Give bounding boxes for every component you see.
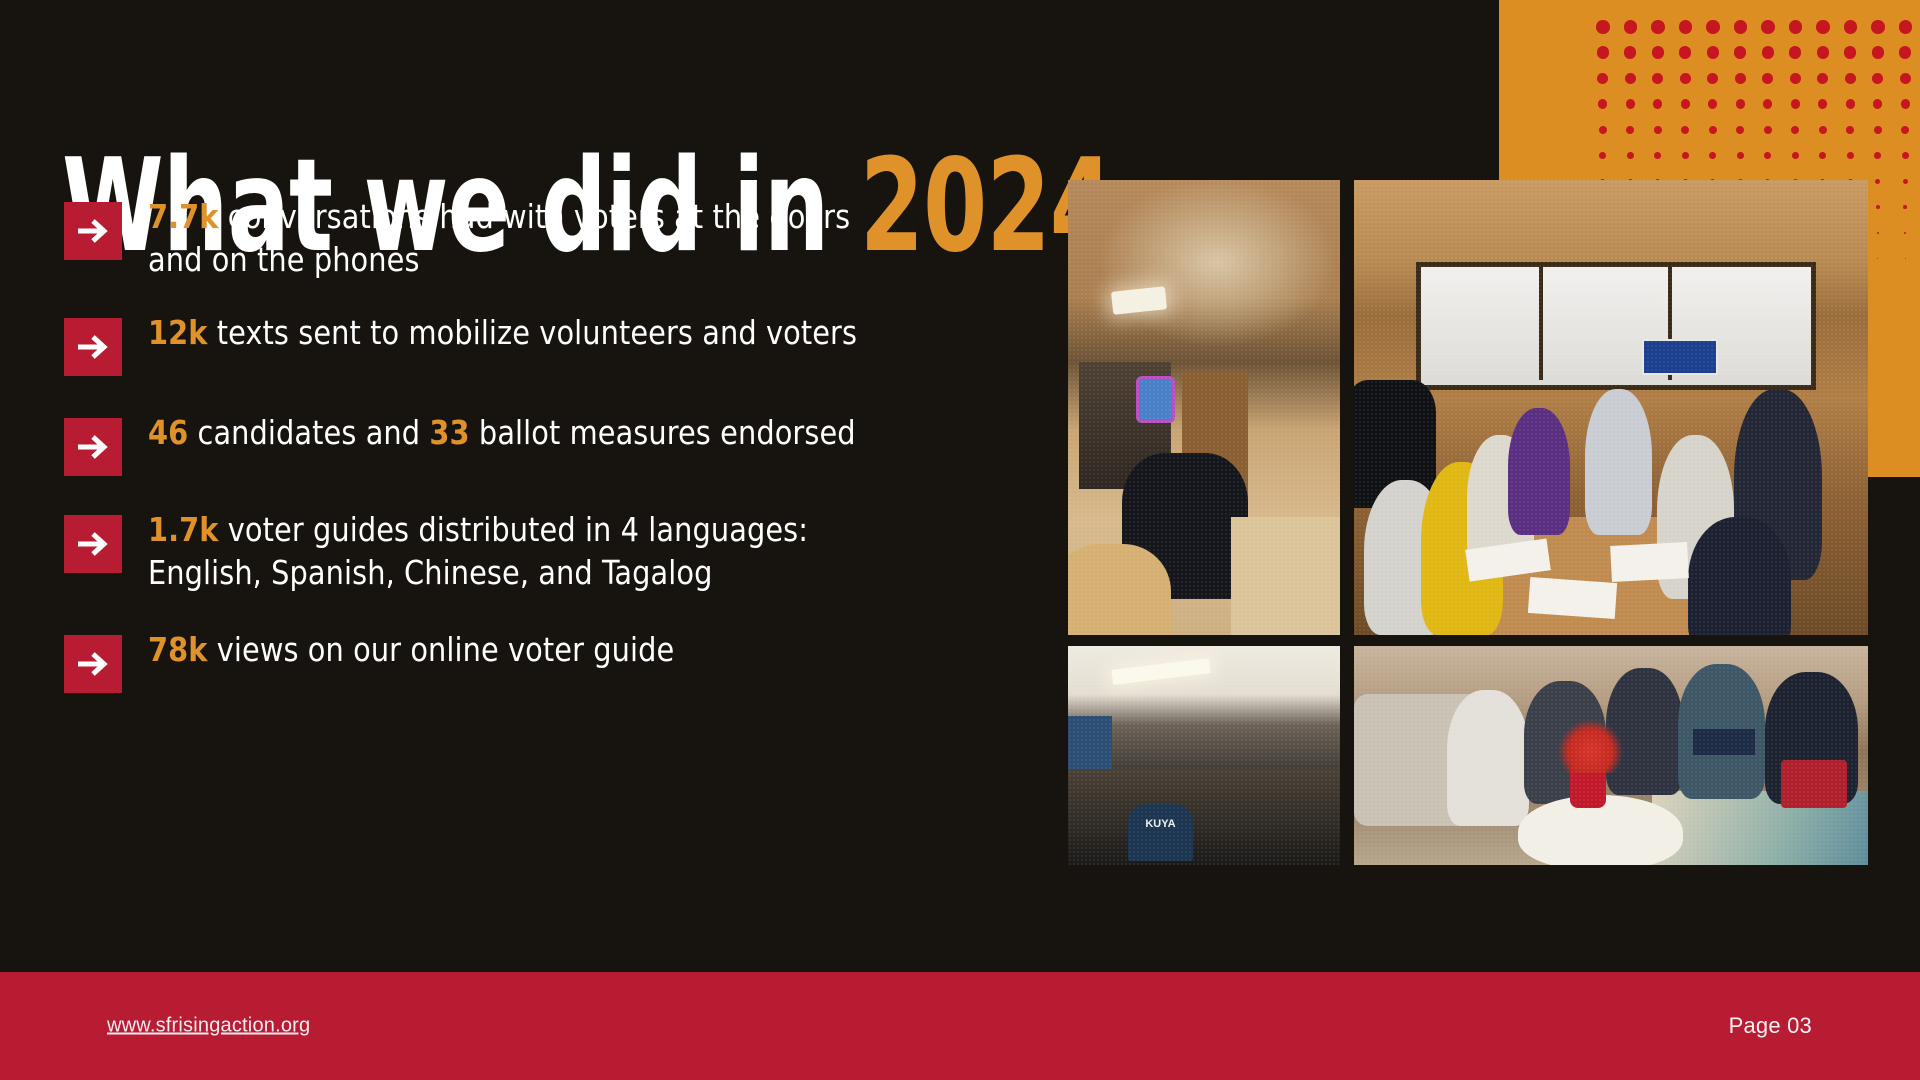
dot [1872,46,1884,58]
dot [1904,232,1906,234]
dot [1846,99,1855,108]
stat-item-line: 46 candidates and 33 ballot measures end… [148,412,856,455]
arrow-right-icon [64,202,122,260]
stat-item-line: and on the phones [148,239,850,282]
dot [1791,99,1800,108]
stat-item: 1.7k voter guides distributed in 4 langu… [64,509,884,595]
stat-label: candidates and [188,413,429,452]
footer-bar: www.sfrisingaction.org Page 03 [0,972,1920,1080]
photo-meeting-room-audience [1068,180,1340,635]
dot [1679,20,1693,34]
stat-item: 12k texts sent to mobilize volunteers an… [64,312,884,376]
stat-number: 7.7k [148,197,219,236]
dot [1844,46,1856,58]
dot [1903,179,1908,184]
stat-item: 46 candidates and 33 ballot measures end… [64,412,884,476]
dot [1709,152,1716,159]
stat-number: 1.7k [148,510,219,549]
dot [1903,205,1907,209]
stat-item-text: 12k texts sent to mobilize volunteers an… [148,312,857,355]
dot [1790,73,1801,84]
dot [1791,126,1799,134]
stat-item-text: 78k views on our online voter guide [148,629,674,672]
stat-item: 78k views on our online voter guide [64,629,884,693]
stat-label: ballot measures endorsed [470,413,856,452]
dot [1762,73,1773,84]
footer-website-link[interactable]: www.sfrisingaction.org [107,1015,310,1038]
dot [1682,152,1689,159]
stat-item-line: 7.7k conversations had with voters at th… [148,196,850,239]
dot [1844,20,1858,34]
photo-caption-kuya: KUYA [1145,818,1175,830]
arrow-right-icon [64,318,122,376]
dot [1845,73,1856,84]
dot [1899,46,1911,58]
stat-item-text: 46 candidates and 33 ballot measures end… [148,412,856,455]
dot [1789,20,1803,34]
dot [1597,73,1608,84]
dot [1902,152,1909,159]
dot [1625,73,1636,84]
dot [1652,46,1664,58]
dot [1899,20,1913,34]
stat-item-line: 78k views on our online voter guide [148,629,674,672]
dot [1599,126,1607,134]
arrow-right-icon [64,418,122,476]
stat-label: texts sent to mobilize volunteers and vo… [208,313,858,352]
dot [1816,20,1830,34]
dot [1681,126,1689,134]
photo-collage: KUYA [1068,180,1868,865]
dot [1597,46,1609,58]
stat-label: voter guides distributed in 4 languages: [219,510,809,549]
photo-table-discussion-chen-sign [1354,180,1868,635]
dot [1763,99,1772,108]
dot [1874,152,1881,159]
stat-item-text: 1.7k voter guides distributed in 4 langu… [148,509,808,595]
dot [1819,152,1826,159]
dot [1654,126,1662,134]
dot [1792,152,1799,159]
dot [1901,126,1909,134]
dot [1817,73,1828,84]
dot [1626,126,1634,134]
footer-page-number: Page 03 [1729,1013,1812,1039]
dot [1874,126,1882,134]
stat-number: 46 [148,413,188,452]
dot [1764,126,1772,134]
dot [1900,73,1911,84]
stat-item-text: 7.7k conversations had with voters at th… [148,196,850,282]
dot [1876,205,1880,209]
stat-item-line: English, Spanish, Chinese, and Tagalog [148,552,808,595]
stat-label: conversations had with voters at the doo… [219,197,851,236]
dot [1681,99,1690,108]
dot [1708,99,1717,108]
dot [1707,73,1718,84]
dot [1735,73,1746,84]
stat-item-line: 1.7k voter guides distributed in 4 langu… [148,509,808,552]
dot [1679,46,1691,58]
dot [1871,20,1885,34]
stat-number: 78k [148,630,208,669]
dot [1905,258,1906,259]
dot [1901,99,1910,108]
dot [1651,20,1665,34]
dot [1877,258,1878,259]
dot [1599,152,1606,159]
dot [1846,126,1854,134]
dot [1762,46,1774,58]
stat-number: 12k [148,313,208,352]
arrow-right-icon [64,515,122,573]
dot [1847,152,1854,159]
dot [1877,232,1879,234]
dot [1734,20,1748,34]
stats-list: 7.7k conversations had with voters at th… [64,196,884,693]
photo-community-workshop-kuya: KUYA [1068,646,1340,865]
dot [1764,152,1771,159]
dot [1734,46,1746,58]
dot [1819,126,1827,134]
dot [1789,46,1801,58]
dot [1680,73,1691,84]
dot [1653,99,1662,108]
dot [1872,73,1883,84]
dot [1598,99,1607,108]
dot [1627,152,1634,159]
stat-label: views on our online voter guide [208,630,675,669]
dot [1875,179,1880,184]
dot [1761,20,1775,34]
dot [1626,99,1635,108]
stat-item: 7.7k conversations had with voters at th… [64,196,884,282]
dot [1624,46,1636,58]
dot [1709,126,1717,134]
stat-item-line: 12k texts sent to mobilize volunteers an… [148,312,857,355]
dot [1873,99,1882,108]
dot [1624,20,1638,34]
arrow-right-icon [64,635,122,693]
dot [1736,126,1744,134]
dot [1818,99,1827,108]
dot [1654,152,1661,159]
dot [1737,152,1744,159]
dot [1652,73,1663,84]
dot [1736,99,1745,108]
dot [1817,46,1829,58]
photo-living-room-volunteers [1354,646,1868,865]
stat-label: and on the phones [148,240,420,279]
stat-number: 33 [429,413,469,452]
stat-label: English, Spanish, Chinese, and Tagalog [148,553,712,592]
dot [1707,46,1719,58]
dot [1706,20,1720,34]
dot [1596,20,1610,34]
